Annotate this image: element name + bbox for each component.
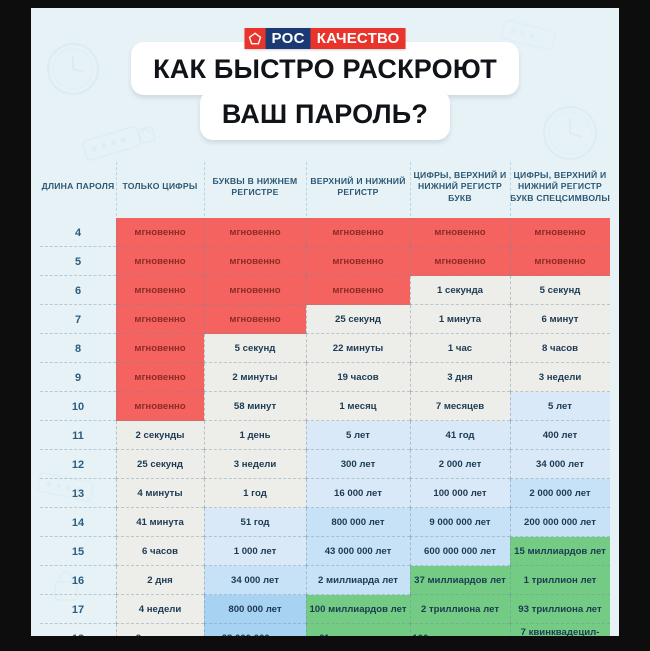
crack-time-cell: мгновенно xyxy=(510,247,610,276)
crack-time-cell: мгновенно xyxy=(306,276,410,305)
crack-time-cell: мгновенно xyxy=(116,218,204,247)
crack-time-cell: мгновенно xyxy=(410,247,510,276)
crack-time-cell: мгновенно xyxy=(204,247,306,276)
crack-time-cell: 600 000 000 лет xyxy=(410,537,510,566)
password-length-value: 6 xyxy=(40,276,116,305)
crack-time-cell: 200 000 000 лет xyxy=(510,508,610,537)
table-row: 7мгновенномгновенно25 секунд1 минута6 ми… xyxy=(40,305,610,334)
table-row: 189 месяцев23 000 000 лет61 триллион лет… xyxy=(40,624,610,636)
password-length-value: 4 xyxy=(40,218,116,247)
table-row: 112 секунды1 день5 лет41 год400 лет xyxy=(40,421,610,450)
password-length-value: 5 xyxy=(40,247,116,276)
title-line-2: ВАШ ПАРОЛЬ? xyxy=(200,90,450,140)
crack-time-cell: 3 дня xyxy=(410,363,510,392)
crack-time-cell: мгновенно xyxy=(204,276,306,305)
page-title: КАК БЫСТРО РАСКРОЮТ ВАШ ПАРОЛЬ? xyxy=(31,42,619,140)
table-row: 162 дня34 000 лет2 миллиарда лет37 милли… xyxy=(40,566,610,595)
logo-text-kachestvo: КАЧЕСТВО xyxy=(311,28,406,49)
crack-time-cell: 1 триллион лет xyxy=(510,566,610,595)
table-row: 6мгновенномгновенномгновенно1 секунда5 с… xyxy=(40,276,610,305)
password-length-value: 17 xyxy=(40,595,116,624)
crack-time-cell: 5 секунд xyxy=(510,276,610,305)
crack-time-cell: 15 миллиардов лет xyxy=(510,537,610,566)
table-row: 8мгновенно5 секунд22 минуты1 час8 часов xyxy=(40,334,610,363)
crack-time-cell: 34 000 лет xyxy=(204,566,306,595)
logo-text-ros: РОС xyxy=(266,28,311,49)
pentagon-quality-mark-icon xyxy=(245,28,266,49)
password-length-value: 10 xyxy=(40,392,116,421)
password-length-value: 14 xyxy=(40,508,116,537)
crack-time-cell: 3 недели xyxy=(204,450,306,479)
crack-time-cell: 19 часов xyxy=(306,363,410,392)
crack-time-cell: мгновенно xyxy=(204,218,306,247)
table-row: 134 минуты1 год16 000 лет100 000 лет2 00… xyxy=(40,479,610,508)
infographic-poster: РОС КАЧЕСТВО КАК БЫСТРО РАСКРОЮТ ВАШ ПАР… xyxy=(31,8,619,636)
crack-time-cell: 1 секунда xyxy=(410,276,510,305)
crack-time-cell: 1 день xyxy=(204,421,306,450)
column-header-3: ВЕРХНИЙ И НИЖНИЙ РЕГИСТР xyxy=(306,156,410,218)
column-header-4: ЦИФРЫ, ВЕРХНИЙ И НИЖНИЙ РЕГИСТР БУКВ xyxy=(410,156,510,218)
crack-time-cell: 1 минута xyxy=(410,305,510,334)
column-header-1: ТОЛЬКО ЦИФРЫ xyxy=(116,156,204,218)
crack-time-cell: мгновенно xyxy=(510,218,610,247)
crack-time-cell: 800 000 лет xyxy=(204,595,306,624)
crack-time-cell: 6 минут xyxy=(510,305,610,334)
crack-time-cell: 100 000 лет xyxy=(410,479,510,508)
crack-time-cell: 100 миллиардов лет xyxy=(306,595,410,624)
crack-time-cell: мгновенно xyxy=(306,218,410,247)
crack-time-cell: 9 000 000 лет xyxy=(410,508,510,537)
password-crack-time-table: ДЛИНА ПАРОЛЯТОЛЬКО ЦИФРЫБУКВЫ В НИЖНЕМ Р… xyxy=(40,156,610,636)
table-header-row: ДЛИНА ПАРОЛЯТОЛЬКО ЦИФРЫБУКВЫ В НИЖНЕМ Р… xyxy=(40,156,610,218)
column-header-0: ДЛИНА ПАРОЛЯ xyxy=(40,156,116,218)
roskachestvo-logo: РОС КАЧЕСТВО xyxy=(245,28,406,49)
crack-time-cell: 1 месяц xyxy=(306,392,410,421)
crack-time-cell: 8 часов xyxy=(510,334,610,363)
crack-time-cell: 23 000 000 лет xyxy=(204,624,306,636)
crack-time-cell: мгновенно xyxy=(204,305,306,334)
crack-time-cell: 5 лет xyxy=(510,392,610,421)
password-length-value: 7 xyxy=(40,305,116,334)
crack-time-cell: 1 год xyxy=(204,479,306,508)
table-row: 1225 секунд3 недели300 лет2 000 лет34 00… xyxy=(40,450,610,479)
crack-time-cell: 34 000 лет xyxy=(510,450,610,479)
crack-time-cell: 61 триллион лет xyxy=(306,624,410,636)
crack-time-cell: 2 минуты xyxy=(204,363,306,392)
crack-time-cell: 300 лет xyxy=(306,450,410,479)
crack-time-cell: 41 год xyxy=(410,421,510,450)
crack-time-cell: 25 секунд xyxy=(306,305,410,334)
password-length-value: 12 xyxy=(40,450,116,479)
crack-time-cell: мгновенно xyxy=(116,247,204,276)
password-length-value: 8 xyxy=(40,334,116,363)
password-length-value: 11 xyxy=(40,421,116,450)
table-row: 10мгновенно58 минут1 месяц7 месяцев5 лет xyxy=(40,392,610,421)
password-length-value: 9 xyxy=(40,363,116,392)
crack-time-cell: 4 минуты xyxy=(116,479,204,508)
crack-time-cell: 100 триллионов лет xyxy=(410,624,510,636)
crack-time-cell: 2 миллиарда лет xyxy=(306,566,410,595)
crack-time-cell: 7 квинквадецил-лионов лет xyxy=(510,624,610,636)
column-header-5: ЦИФРЫ, ВЕРХНИЙ И НИЖНИЙ РЕГИСТР БУКВ СПЕ… xyxy=(510,156,610,218)
crack-time-cell: 400 лет xyxy=(510,421,610,450)
column-header-2: БУКВЫ В НИЖНЕМ РЕГИСТРЕ xyxy=(204,156,306,218)
crack-time-cell: 43 000 000 лет xyxy=(306,537,410,566)
table-row: 9мгновенно2 минуты19 часов3 дня3 недели xyxy=(40,363,610,392)
crack-time-cell: 41 минута xyxy=(116,508,204,537)
password-length-value: 16 xyxy=(40,566,116,595)
crack-time-cell: 7 месяцев xyxy=(410,392,510,421)
crack-time-cell: мгновенно xyxy=(116,334,204,363)
crack-time-cell: 25 секунд xyxy=(116,450,204,479)
crack-time-cell: 800 000 лет xyxy=(306,508,410,537)
crack-time-cell: 2 000 000 лет xyxy=(510,479,610,508)
crack-time-cell: 58 минут xyxy=(204,392,306,421)
crack-time-cell: 22 минуты xyxy=(306,334,410,363)
crack-time-cell: мгновенно xyxy=(116,363,204,392)
crack-time-cell: 6 часов xyxy=(116,537,204,566)
title-line-1: КАК БЫСТРО РАСКРОЮТ xyxy=(131,42,519,95)
crack-time-cell: мгновенно xyxy=(116,392,204,421)
password-length-value: 15 xyxy=(40,537,116,566)
table-row: 4мгновенномгновенномгновенномгновенномгн… xyxy=(40,218,610,247)
table-body: 4мгновенномгновенномгновенномгновенномгн… xyxy=(40,218,610,636)
password-length-value: 18 xyxy=(40,624,116,636)
crack-time-cell: мгновенно xyxy=(410,218,510,247)
table-row: 1441 минута51 год800 000 лет9 000 000 ле… xyxy=(40,508,610,537)
crack-time-cell: мгновенно xyxy=(306,247,410,276)
table-row: 156 часов1 000 лет43 000 000 лет600 000 … xyxy=(40,537,610,566)
crack-time-cell: 1 000 лет xyxy=(204,537,306,566)
crack-time-cell: 2 дня xyxy=(116,566,204,595)
crack-time-cell: 2 секунды xyxy=(116,421,204,450)
crack-time-cell: 9 месяцев xyxy=(116,624,204,636)
crack-time-cell: 2 000 лет xyxy=(410,450,510,479)
crack-time-cell: 5 секунд xyxy=(204,334,306,363)
crack-time-cell: 1 час xyxy=(410,334,510,363)
crack-time-cell: мгновенно xyxy=(116,276,204,305)
crack-time-cell: 93 триллиона лет xyxy=(510,595,610,624)
crack-time-cell: 51 год xyxy=(204,508,306,537)
crack-time-cell: 5 лет xyxy=(306,421,410,450)
crack-time-cell: 3 недели xyxy=(510,363,610,392)
crack-time-cell: мгновенно xyxy=(116,305,204,334)
crack-time-cell: 16 000 лет xyxy=(306,479,410,508)
table-row: 5мгновенномгновенномгновенномгновенномгн… xyxy=(40,247,610,276)
crack-time-cell: 37 миллиардов лет xyxy=(410,566,510,595)
crack-time-cell: 4 недели xyxy=(116,595,204,624)
password-length-value: 13 xyxy=(40,479,116,508)
crack-time-cell: 2 триллиона лет xyxy=(410,595,510,624)
table-row: 174 недели800 000 лет100 миллиардов лет2… xyxy=(40,595,610,624)
